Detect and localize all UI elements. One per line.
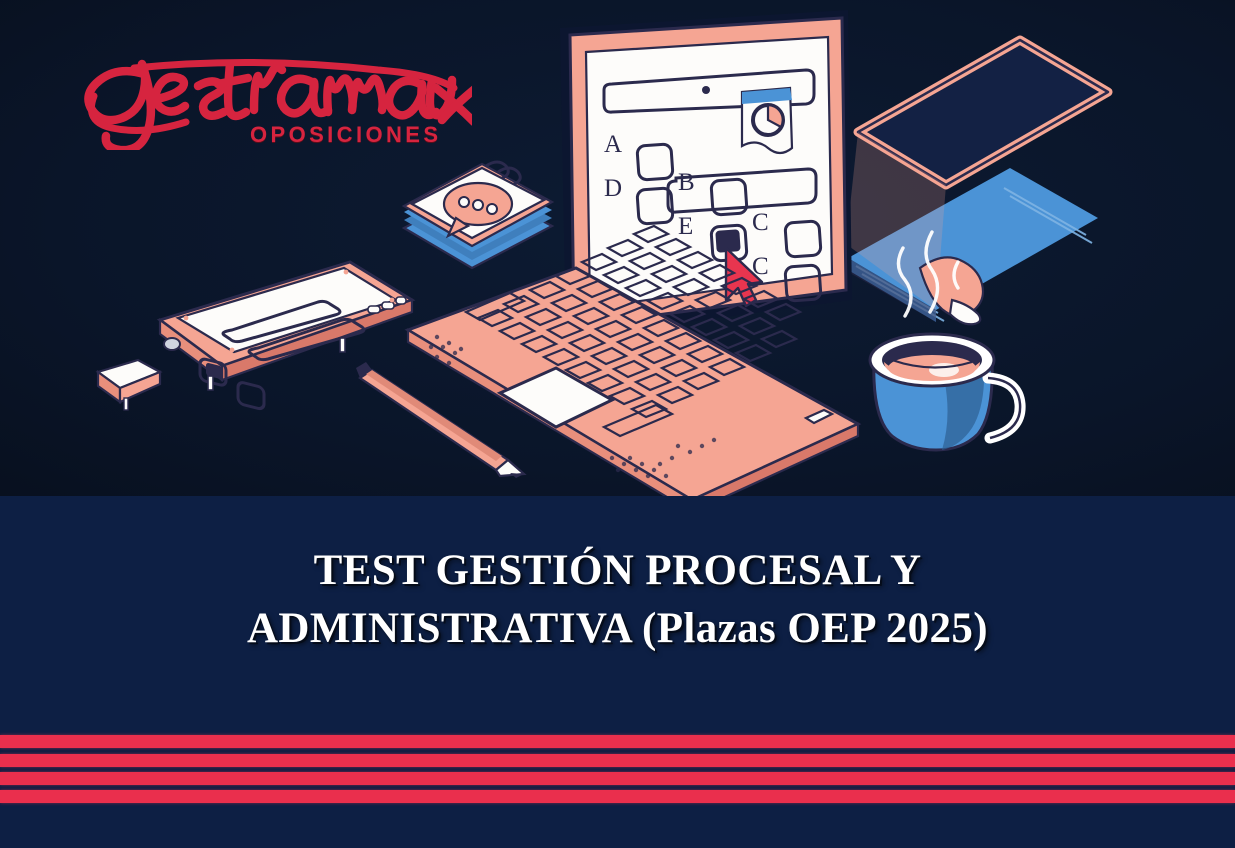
svg-text:E: E: [678, 213, 693, 240]
svg-text:A: A: [604, 131, 622, 158]
svg-text:B: B: [678, 169, 695, 196]
page-title: TEST GESTIÓN PROCESAL Y ADMINISTRATIVA (…: [0, 542, 1235, 658]
title-line-1: TEST GESTIÓN PROCESAL Y: [0, 542, 1235, 600]
stripe-3: [0, 772, 1235, 785]
promo-banner: .ink { fill:#2b2a4d; } .pap { fill:#fdfc…: [0, 0, 1235, 848]
notepad-speech-bubble-illustration: [404, 162, 552, 268]
hero-illustration-area: .ink { fill:#2b2a4d; } .pap { fill:#fdfc…: [0, 0, 1235, 496]
brand-tagline: OPOSICIONES: [250, 122, 441, 148]
svg-text:D: D: [604, 175, 622, 202]
tablet-illustration: [128, 262, 412, 410]
smartphone-illustration: [98, 360, 160, 410]
stripe-1: [0, 735, 1235, 748]
decorative-stripes: [0, 735, 1235, 803]
brand-logo[interactable]: OPOSICIONES: [72, 38, 472, 150]
svg-text:C: C: [752, 209, 769, 236]
stripe-2: [0, 754, 1235, 767]
stripe-4: [0, 790, 1235, 803]
title-line-2: ADMINISTRATIVA (Plazas OEP 2025): [0, 600, 1235, 658]
pie-chart-document-icon: [742, 88, 792, 153]
